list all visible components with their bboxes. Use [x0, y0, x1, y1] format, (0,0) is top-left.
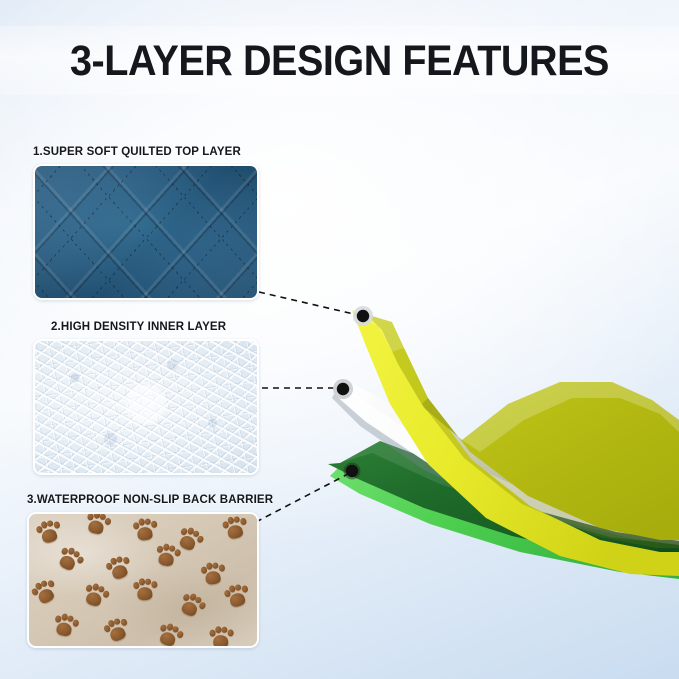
marker-dot-2	[337, 383, 349, 395]
paw-print-icon	[153, 542, 182, 571]
layer-markers	[333, 306, 373, 480]
top-layer-yellow	[352, 310, 679, 576]
leader-line-1	[259, 292, 358, 315]
white-fiber-batting-texture	[35, 341, 257, 473]
quilted-blue-fabric-swatch[interactable]	[33, 164, 259, 300]
middle-layer-white	[330, 380, 679, 545]
paw-print-icon	[208, 625, 236, 648]
layer-1-label: 1.SUPER SOFT QUILTED TOP LAYER	[33, 146, 259, 158]
infographic-root: 3-LAYER DESIGN FEATURES	[0, 0, 679, 679]
paw-print-icon	[51, 612, 81, 642]
paw-print-icon	[101, 614, 135, 648]
paw-print-icon	[34, 517, 67, 550]
marker-dot-3-halo	[344, 463, 361, 480]
layer-1-callout: 1.SUPER SOFT QUILTED TOP LAYER	[33, 146, 259, 300]
paw-print-icon	[53, 544, 88, 579]
paw-print-icon	[154, 621, 187, 648]
paw-print-icon	[132, 577, 161, 606]
layer-2-callout: 2.HIGH DENSITY INNER LAYER	[33, 321, 259, 475]
white-fiber-batting-swatch[interactable]	[33, 339, 259, 475]
quilted-blue-fabric-texture	[35, 166, 257, 298]
marker-dot-3	[346, 465, 358, 477]
paw-print-icon	[175, 590, 209, 624]
paw-print-icon	[83, 512, 114, 540]
marker-dot-2-halo	[333, 379, 353, 399]
bottom-layer-green	[328, 441, 679, 579]
paw-print-icon	[199, 560, 229, 590]
paw-print-icon	[28, 575, 64, 611]
page-title: 3-LAYER DESIGN FEATURES	[27, 32, 652, 90]
beige-paw-print-backing-swatch[interactable]	[27, 512, 259, 648]
layer-3-callout: 3.WATERPROOF NON-SLIP BACK BARRIER	[27, 494, 273, 648]
marker-dot-1	[357, 310, 369, 322]
callout-leader-lines	[256, 292, 358, 522]
paw-print-icon	[220, 513, 252, 545]
layer-2-label: 2.HIGH DENSITY INNER LAYER	[33, 321, 259, 333]
marker-dot-1-halo	[353, 306, 373, 326]
beige-paw-print-texture	[29, 514, 257, 646]
layer-3-label: 3.WATERPROOF NON-SLIP BACK BARRIER	[27, 494, 273, 506]
paw-print-icon	[80, 581, 112, 613]
